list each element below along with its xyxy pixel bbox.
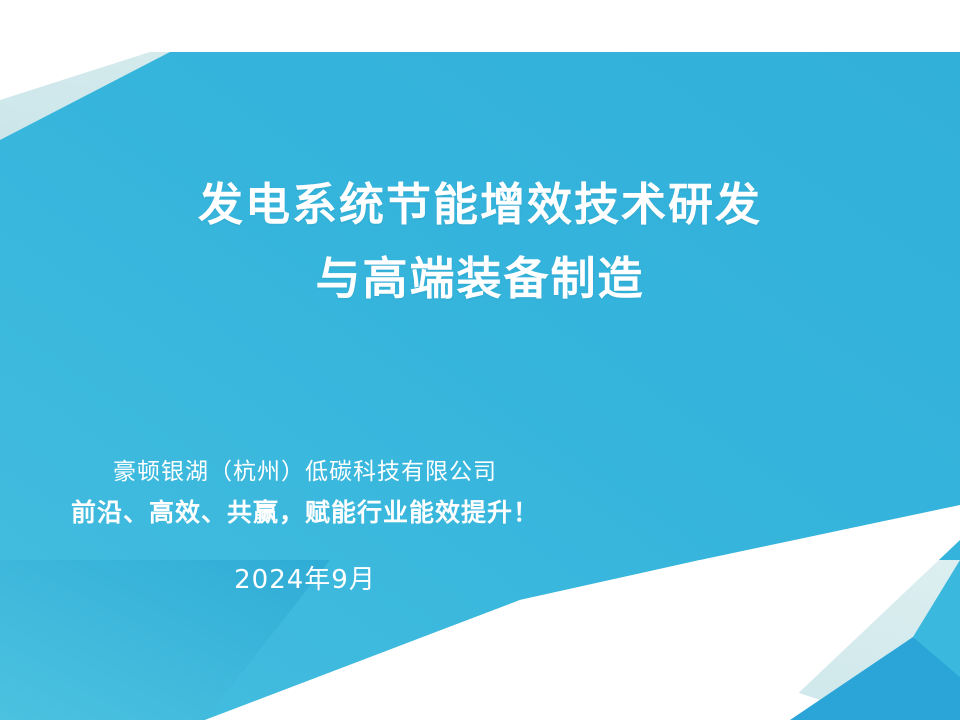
slide-title: 发电系统节能增效技术研发 与高端装备制造 [0,168,960,316]
title-line-1: 发电系统节能增效技术研发 [0,168,960,242]
slide-footer: 豪顿银湖（杭州）低碳科技有限公司 前沿、高效、共赢，赋能行业能效提升！ [0,455,610,537]
presentation-slide: 发电系统节能增效技术研发 与高端装备制造 豪顿银湖（杭州）低碳科技有限公司 前沿… [0,0,960,720]
slide-date: 2024年9月 [0,562,610,598]
slide-text-layer: 发电系统节能增效技术研发 与高端装备制造 豪顿银湖（杭州）低碳科技有限公司 前沿… [0,0,960,720]
company-name: 豪顿银湖（杭州）低碳科技有限公司 [0,455,610,489]
title-line-2: 与高端装备制造 [0,242,960,316]
slogan-text: 前沿、高效、共赢，赋能行业能效提升！ [0,489,610,537]
